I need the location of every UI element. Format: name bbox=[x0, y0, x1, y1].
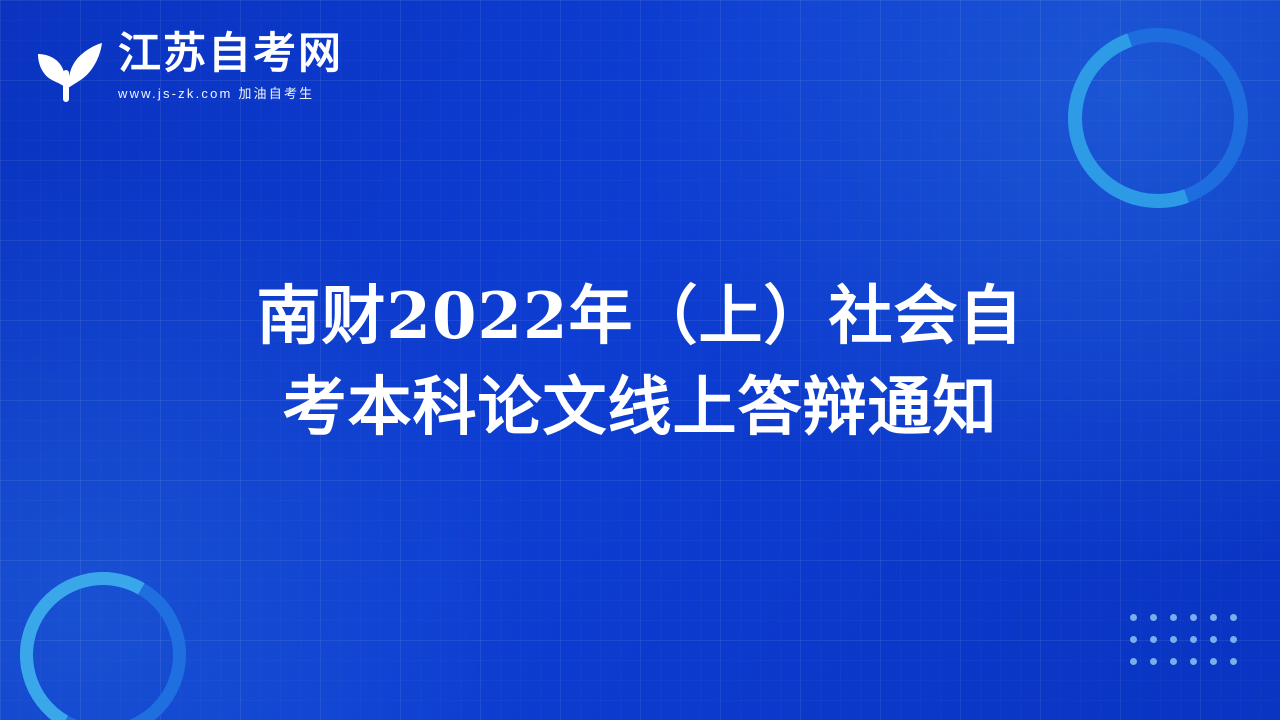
ring-top-right-icon bbox=[1068, 28, 1248, 208]
site-tagline: www.js-zk.com 加油自考生 bbox=[118, 83, 343, 102]
sprout-leaf-icon bbox=[30, 30, 104, 104]
site-name: 江苏自考网 bbox=[118, 32, 343, 77]
dot-matrix-icon bbox=[1130, 614, 1250, 680]
promo-banner: 江苏自考网 www.js-zk.com 加油自考生 南财2022年（上）社会自 … bbox=[0, 0, 1280, 720]
page-title: 南财2022年（上）社会自 考本科论文线上答辩通知 bbox=[0, 272, 1280, 454]
site-logo[interactable]: 江苏自考网 www.js-zk.com 加油自考生 bbox=[30, 28, 343, 104]
title-line-1: 南财2022年（上）社会自 bbox=[120, 272, 1160, 363]
title-line-2: 考本科论文线上答辩通知 bbox=[120, 363, 1160, 454]
ring-bottom-left-icon bbox=[20, 572, 186, 720]
